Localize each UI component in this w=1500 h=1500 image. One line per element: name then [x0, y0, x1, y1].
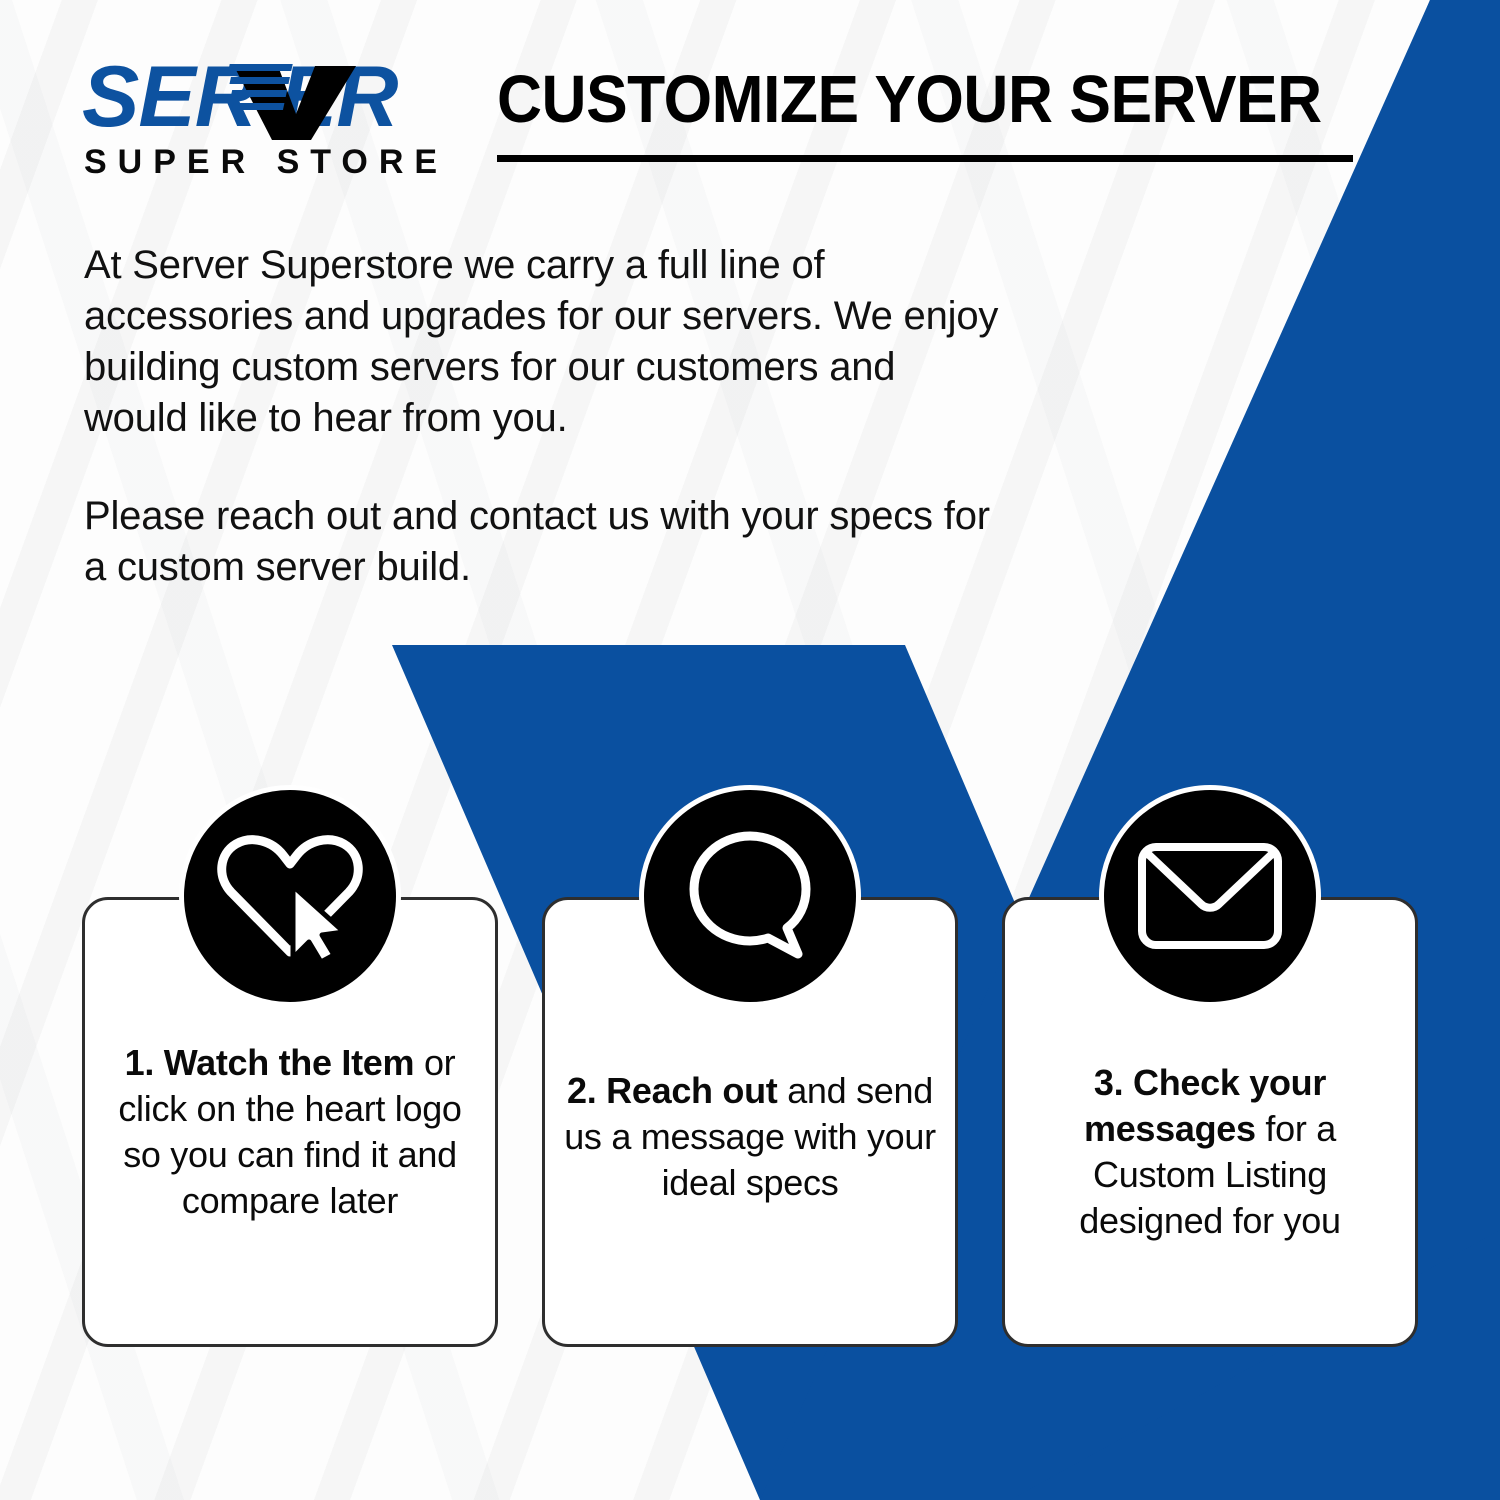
step-card-2-bold: 2. Reach out [567, 1070, 777, 1111]
promo-banner: SER ER SUPER STORE SERVER SUPER STORE CU… [0, 0, 1500, 1500]
step-card-3-text: 3. Check your messages for a Custom List… [1023, 1060, 1397, 1244]
steps-section: 1. Watch the Item or click on the heart … [0, 0, 1500, 1500]
step-card-1-text: 1. Watch the Item or click on the heart … [103, 1040, 477, 1224]
step-card-1-bold: 1. Watch the Item [125, 1042, 415, 1083]
step-2-icon-badge [639, 785, 861, 1007]
step-1-icon-badge [179, 785, 401, 1007]
step-card-2-text: 2. Reach out and send us a message with … [563, 1068, 937, 1206]
speech-bubble-icon [680, 828, 820, 964]
envelope-icon [1135, 840, 1285, 952]
step-3-icon-badge [1099, 785, 1321, 1007]
heart-cursor-icon [215, 830, 365, 962]
